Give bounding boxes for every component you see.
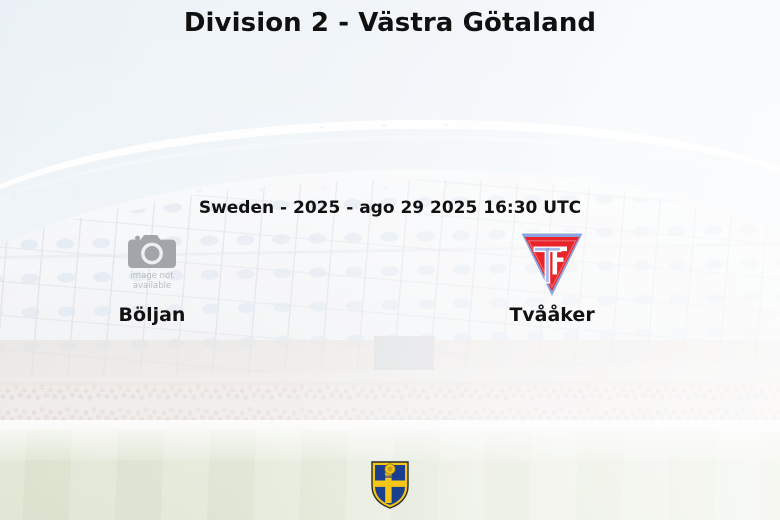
camera-icon	[128, 231, 176, 271]
away-team-name: Tvååker	[442, 304, 662, 326]
tvaaker-if-triangle-logo-icon	[516, 228, 588, 300]
home-team: image not available Böljan	[42, 228, 262, 326]
home-team-crest: image not available	[42, 228, 262, 300]
match-preview-card: Division 2 - Västra Götaland Sweden - 20…	[0, 0, 780, 520]
match-subtitle: Sweden - 2025 - ago 29 2025 16:30 UTC	[0, 198, 780, 218]
placeholder-caption: image not available	[121, 271, 183, 291]
home-team-name: Böljan	[42, 304, 262, 326]
page-title: Division 2 - Västra Götaland	[0, 8, 780, 38]
away-team: Tvååker	[442, 228, 662, 326]
placeholder-line-2: available	[121, 281, 183, 291]
swedish-football-association-crest-icon	[370, 458, 410, 510]
away-team-crest	[442, 228, 662, 300]
image-not-available-placeholder: image not available	[121, 229, 183, 299]
placeholder-line-1: image not	[121, 271, 183, 281]
